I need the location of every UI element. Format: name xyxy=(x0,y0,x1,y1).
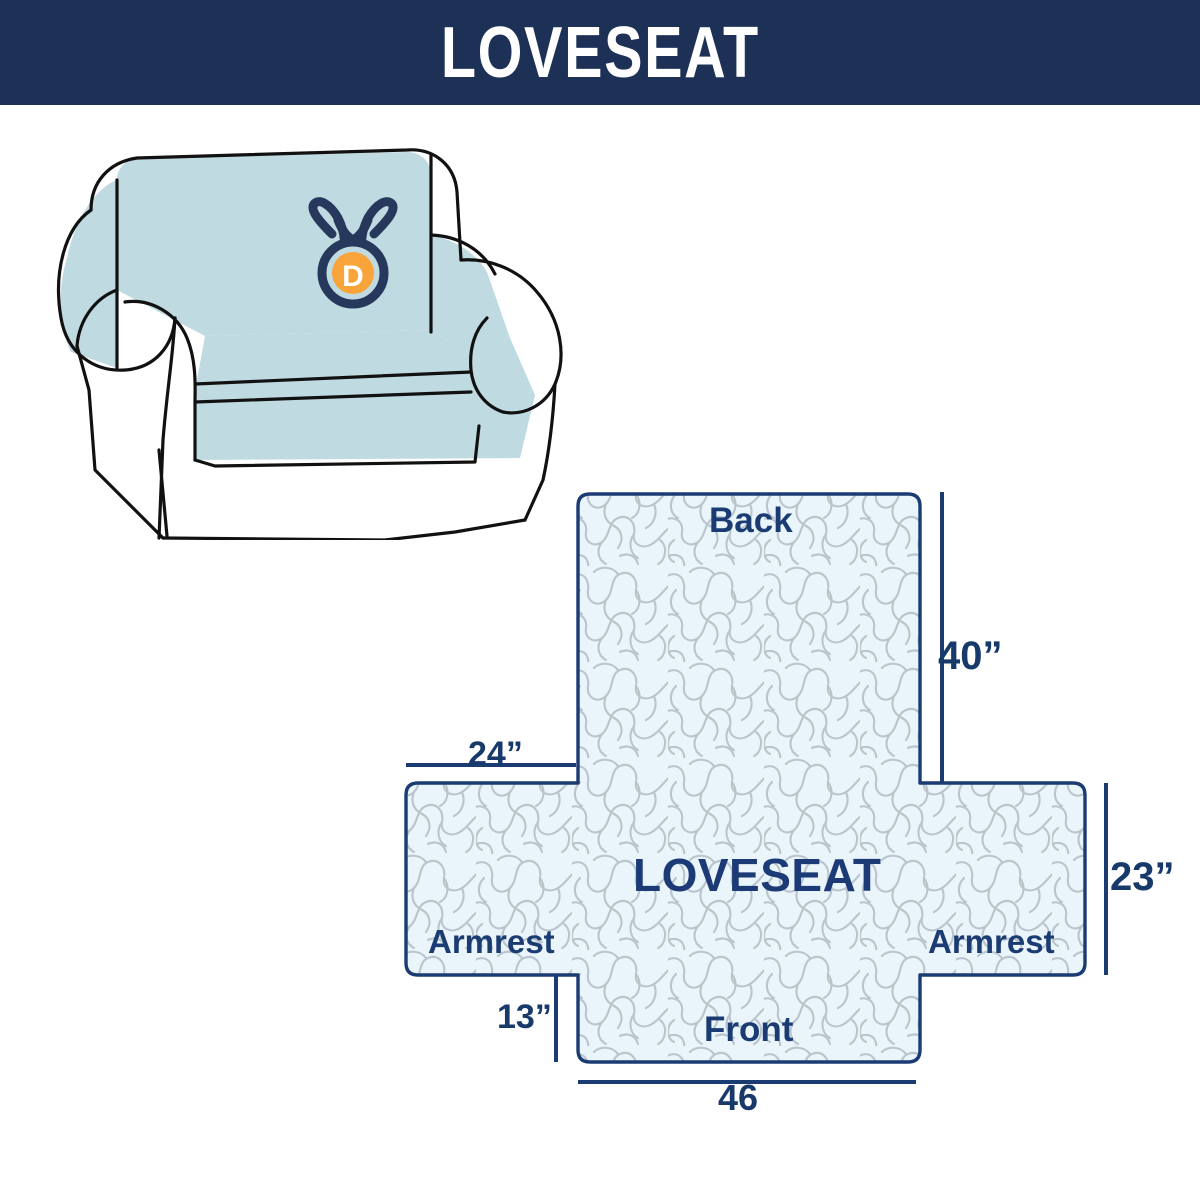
dimension-label-front-height: 13” xyxy=(497,1000,552,1034)
dimension-label-front-width: 46 xyxy=(718,1080,758,1116)
panel-label-back: Back xyxy=(709,503,793,538)
sofa-back-fabric xyxy=(117,152,431,336)
page-root: LOVESEAT xyxy=(0,0,1200,1200)
panel-label-front: Front xyxy=(704,1012,793,1047)
cover-cross-shape xyxy=(406,494,1085,1062)
page-header: LOVESEAT xyxy=(0,0,1200,105)
page-title: LOVESEAT xyxy=(441,17,760,89)
dimension-label-armrest-width: 24” xyxy=(468,737,523,771)
sofa-left-base-outline xyxy=(77,346,163,538)
dimension-label-seat-depth: 23” xyxy=(1110,857,1175,897)
cover-outline-path xyxy=(406,494,1085,1062)
logo-letter: D xyxy=(342,260,364,293)
panel-label-armrest-right: Armrest xyxy=(928,925,1055,958)
panel-label-center: LOVESEAT xyxy=(633,852,882,898)
panel-label-armrest-left: Armrest xyxy=(428,925,555,958)
dimension-label-back-height: 40” xyxy=(938,636,1003,676)
